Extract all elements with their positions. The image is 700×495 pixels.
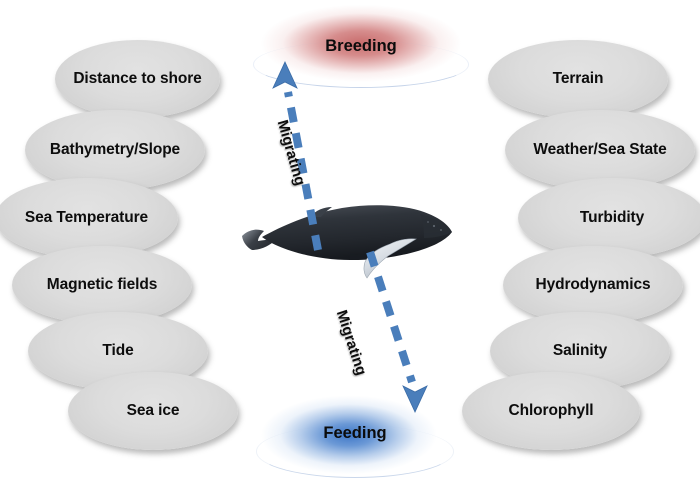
feeding-label: Feeding <box>323 424 386 443</box>
factor-label: Weather/Sea State <box>533 142 666 158</box>
factor-label: Bathymetry/Slope <box>50 142 180 158</box>
factor-ellipse-chlorophyll[interactable]: Chlorophyll <box>462 372 640 450</box>
migrating-label-up: Migrating <box>274 118 309 188</box>
factor-label: Hydrodynamics <box>536 277 651 293</box>
breeding-label: Breeding <box>325 37 397 56</box>
factor-label: Turbidity <box>580 210 644 226</box>
whale-tubercle <box>433 225 435 227</box>
factor-label: Sea Temperature <box>25 210 148 226</box>
factor-label: Magnetic fields <box>47 277 157 293</box>
factor-label: Salinity <box>553 343 607 359</box>
factor-label: Terrain <box>553 71 604 87</box>
feeding-zone[interactable]: Feeding <box>255 386 455 480</box>
factor-ellipse-sea-ice[interactable]: Sea ice <box>68 372 238 450</box>
factor-ellipse-distance-to-shore[interactable]: Distance to shore <box>55 40 220 118</box>
whale-tubercle <box>440 229 442 231</box>
diagram-canvas: Distance to shore Bathymetry/Slope Sea T… <box>0 0 700 495</box>
factor-label: Chlorophyll <box>508 403 593 419</box>
factor-label: Tide <box>102 343 133 359</box>
factor-label: Distance to shore <box>73 71 201 87</box>
whale-body <box>262 205 452 260</box>
factor-ellipse-terrain[interactable]: Terrain <box>488 40 668 118</box>
breeding-zone[interactable]: Breeding <box>252 2 470 90</box>
migrating-label-down: Migrating <box>333 308 370 377</box>
factor-label: Sea ice <box>127 403 180 419</box>
humpback-whale-illustration <box>238 192 456 290</box>
whale-tubercle <box>427 221 429 223</box>
factor-ellipse-bathymetry-slope[interactable]: Bathymetry/Slope <box>25 110 205 190</box>
